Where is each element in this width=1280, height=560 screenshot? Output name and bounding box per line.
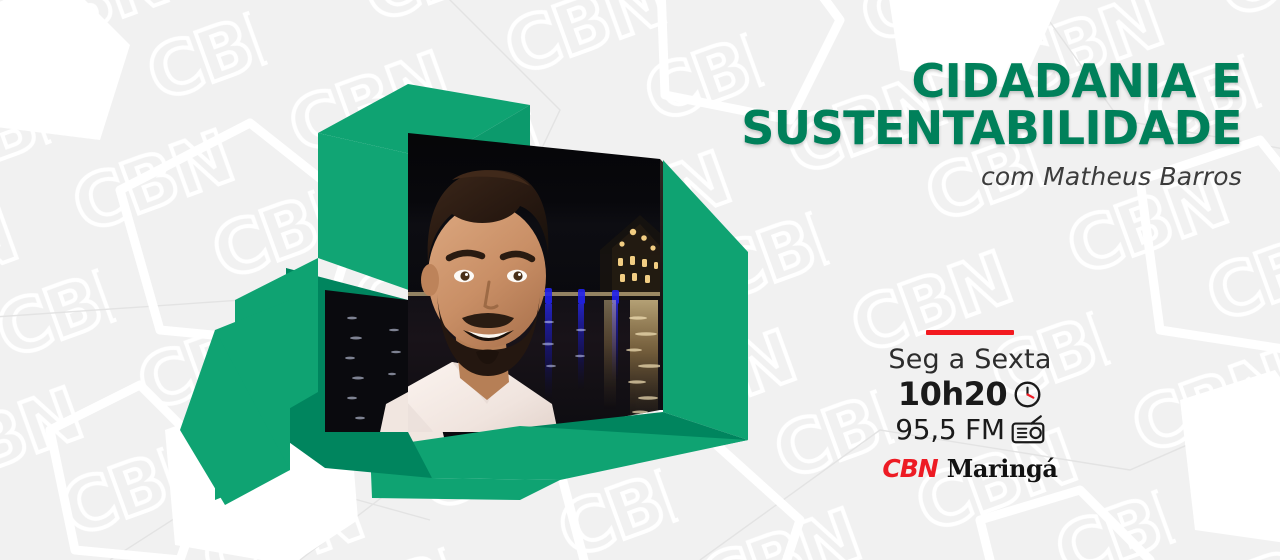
schedule-time-row: 10h20 [880,377,1060,413]
program-title-line-2: SUSTENTABILIDADE [522,105,1242,152]
logo-city-name: Maringá [947,454,1058,483]
radio-icon [1011,415,1045,444]
program-title-block: CIDADANIA E SUSTENTABILIDADE com Matheus… [522,58,1242,191]
schedule-frequency: 95,5 FM [895,414,1004,445]
schedule-time: 10h20 [898,377,1007,413]
schedule-frequency-row: 95,5 FM [880,414,1060,445]
text-layer: CIDADANIA E SUSTENTABILIDADE com Matheus… [0,0,1280,560]
host-credit: com Matheus Barros [522,162,1242,191]
program-title-line-1: CIDADANIA E [522,58,1242,105]
logo-network-name: CBN [882,454,937,483]
clock-icon [1013,380,1042,409]
cbn-maringa-logo[interactable]: CBN Maringá [880,454,1060,483]
schedule-block: Seg a Sexta 10h20 95,5 FM [880,330,1060,483]
schedule-days: Seg a Sexta [880,344,1060,375]
program-banner: CBN CBN [0,0,1280,560]
accent-divider [926,330,1014,335]
